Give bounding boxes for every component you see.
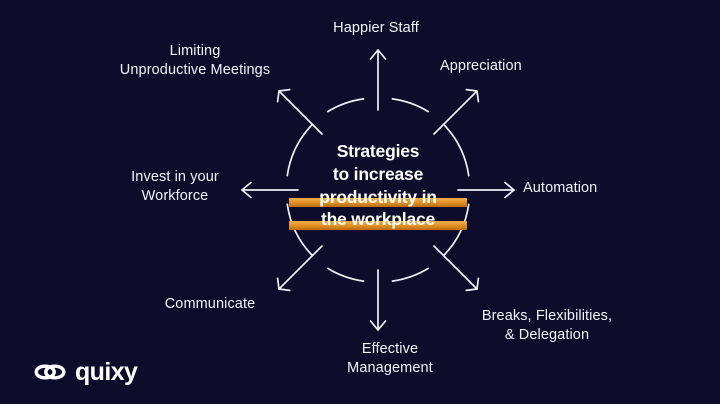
logo-wordmark: quixy: [75, 360, 137, 385]
hub-heading-line-4-highlighted: the workplace: [288, 208, 468, 231]
spoke-label-breaks-flexibilities-delegation: Breaks, Flexibilities, & Delegation: [447, 307, 647, 346]
brand-logo: quixy: [33, 358, 137, 386]
ring-arc-7: [392, 99, 428, 112]
ring-arc-6: [328, 99, 364, 112]
arrow-up-happier-staff: [371, 50, 386, 110]
ring-arc-2: [392, 268, 428, 281]
hub-heading-line-1: Strategies: [288, 140, 468, 163]
spoke-label-invest-in-your-workforce: Invest in your Workforce: [100, 168, 250, 207]
arrow-down-effective-management: [371, 270, 386, 330]
hub-heading: Strategies to increase productivity in t…: [288, 140, 468, 231]
diagram-canvas: Strategies to increase productivity in t…: [0, 0, 720, 404]
arrow-down-left-communicate: [278, 246, 322, 290]
spoke-label-automation: Automation: [523, 179, 703, 198]
spoke-label-effective-management: Effective Management: [310, 340, 470, 379]
interlocking-loops-icon: [33, 358, 67, 386]
hub-heading-line-3-highlighted: productivity in: [288, 186, 468, 209]
spoke-label-appreciation: Appreciation: [440, 57, 610, 76]
spoke-label-happier-staff: Happier Staff: [296, 19, 456, 38]
spoke-label-limiting-unproductive-meetings: Limiting Unproductive Meetings: [85, 42, 305, 81]
ring-arc-3: [328, 268, 364, 281]
arrow-down-right-breaks: [434, 246, 478, 290]
arrow-up-right-appreciation: [434, 90, 478, 134]
arrow-up-left-limiting-meetings: [278, 90, 322, 134]
spoke-label-communicate: Communicate: [120, 295, 300, 314]
hub-heading-line-2: to increase: [288, 163, 468, 186]
